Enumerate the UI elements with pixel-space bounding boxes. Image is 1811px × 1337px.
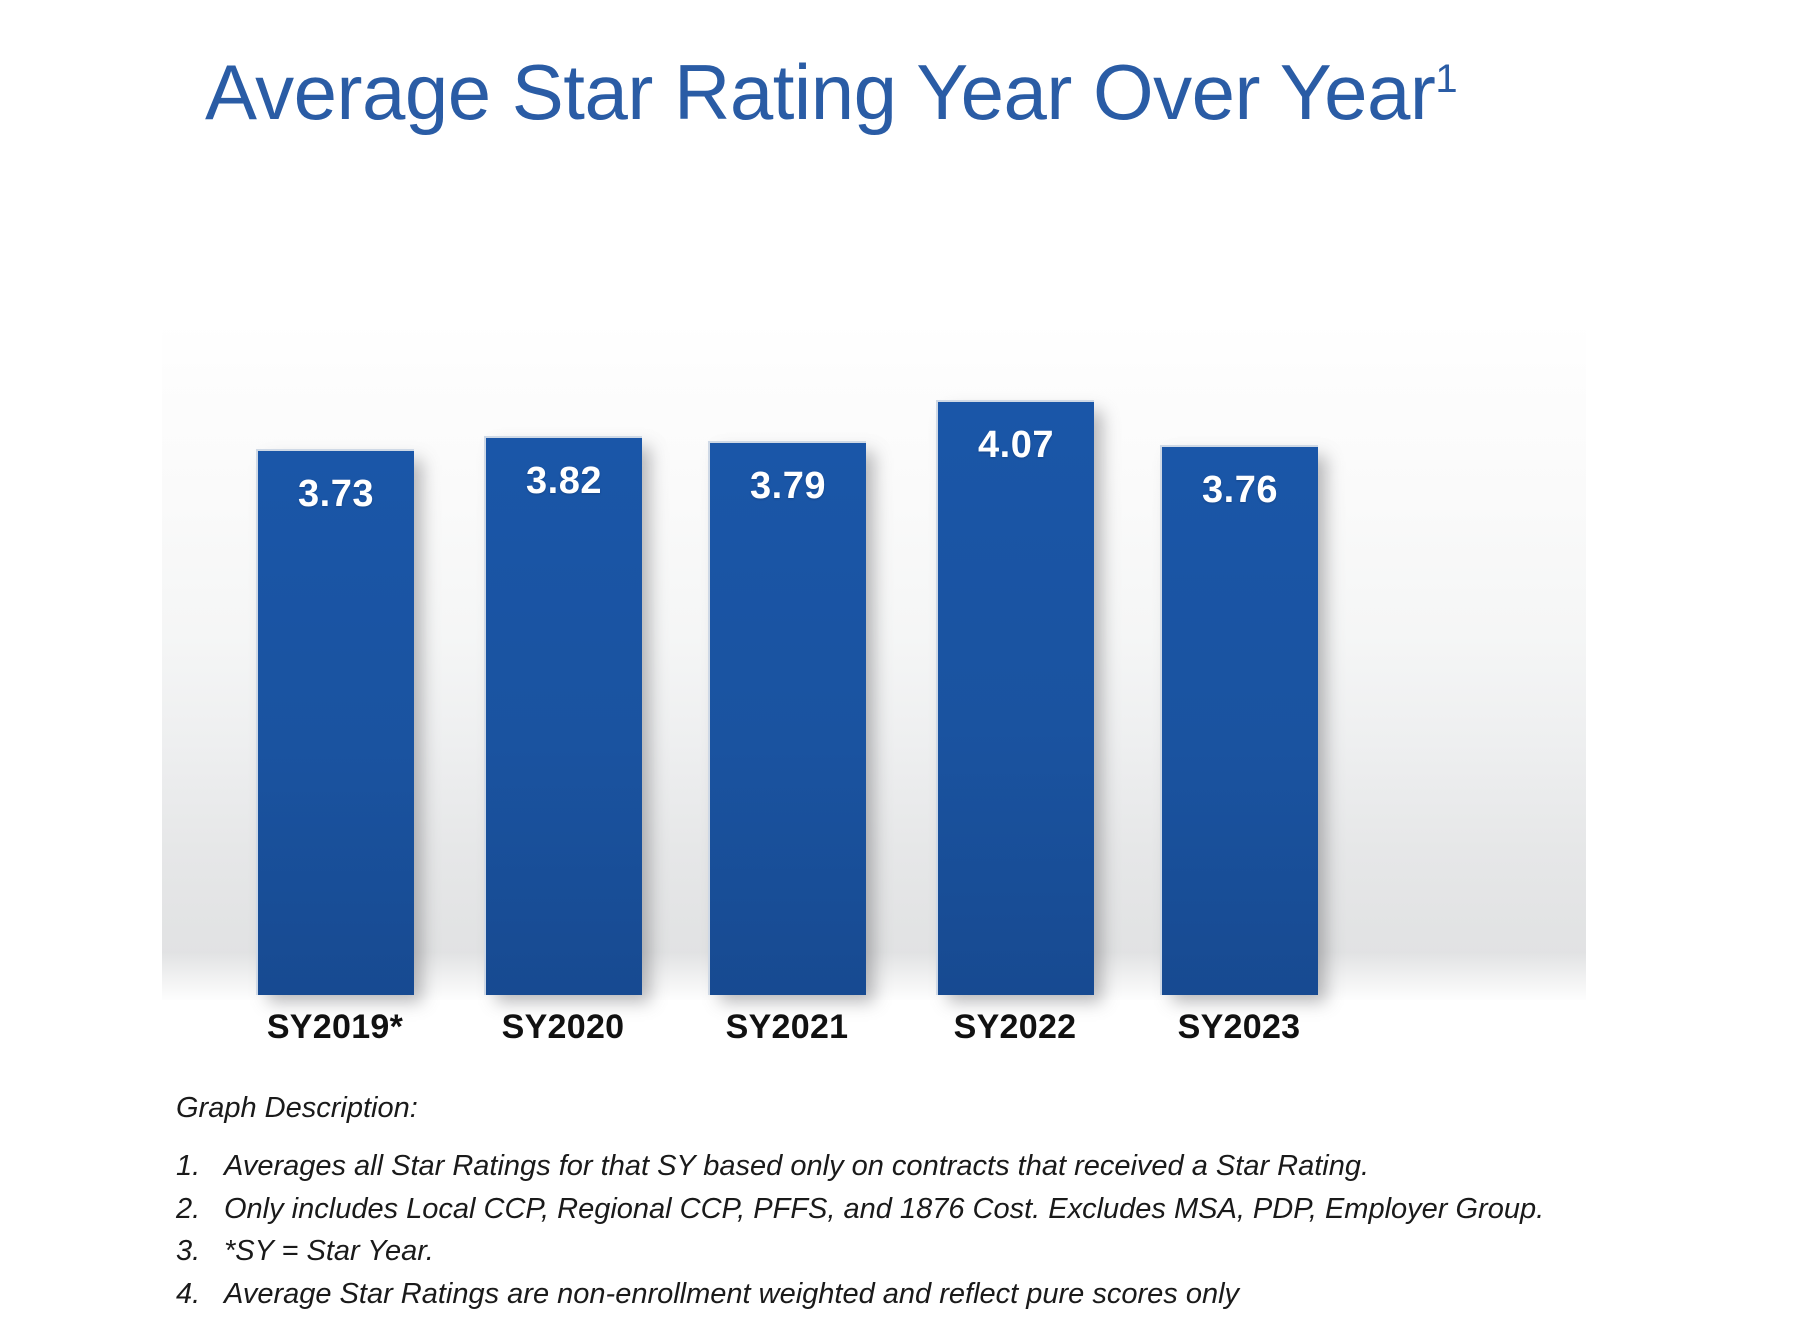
bar-value-label: 4.07: [938, 424, 1094, 467]
bar-value-label: 3.82: [486, 460, 642, 503]
graph-description-item-text: *SY = Star Year.: [224, 1232, 1596, 1271]
bar-slot: 4.07: [936, 400, 1094, 995]
category-label-sy2019: SY2019*: [235, 1008, 435, 1047]
bar-sy2021[interactable]: 3.79: [708, 441, 866, 995]
graph-description-heading: Graph Description:: [176, 1092, 1596, 1125]
graph-description-item-number: 2.: [176, 1190, 224, 1229]
graph-description-item-number: 4.: [176, 1275, 224, 1314]
graph-description-item-text: Averages all Star Ratings for that SY ba…: [224, 1147, 1596, 1186]
graph-description-item: 1.Averages all Star Ratings for that SY …: [176, 1147, 1596, 1186]
bar-slot: 3.73: [256, 449, 414, 995]
bar-slot: 3.76: [1160, 445, 1318, 995]
bar-value-label: 3.76: [1162, 469, 1318, 512]
graph-description-list: 1.Averages all Star Ratings for that SY …: [176, 1147, 1596, 1313]
slide-canvas: Average Star Rating Year Over Year1 3.73…: [0, 0, 1811, 1337]
graph-description-item: 3.*SY = Star Year.: [176, 1232, 1596, 1271]
bar-sy2022[interactable]: 4.07: [936, 400, 1094, 995]
graph-description-item-text: Only includes Local CCP, Regional CCP, P…: [224, 1190, 1596, 1229]
page-title: Average Star Rating Year Over Year1: [205, 48, 1457, 138]
bar-value-label: 3.79: [710, 465, 866, 508]
page-title-text: Average Star Rating Year Over Year: [205, 48, 1435, 136]
graph-description-item-number: 3.: [176, 1232, 224, 1271]
bar-sy2023[interactable]: 3.76: [1160, 445, 1318, 995]
category-label-sy2020: SY2020: [463, 1008, 663, 1047]
bar-series: 3.733.823.794.073.76: [162, 322, 1586, 1000]
graph-description-item-text: Average Star Ratings are non-enrollment …: [224, 1275, 1596, 1314]
category-label-sy2023: SY2023: [1139, 1008, 1339, 1047]
bar-sy2020[interactable]: 3.82: [484, 436, 642, 995]
graph-description-item: 4.Average Star Ratings are non-enrollmen…: [176, 1275, 1596, 1314]
bar-slot: 3.82: [484, 436, 642, 995]
graph-description-item-number: 1.: [176, 1147, 224, 1186]
category-label-sy2022: SY2022: [915, 1008, 1115, 1047]
graph-description: Graph Description: 1.Averages all Star R…: [176, 1092, 1596, 1317]
category-label-sy2021: SY2021: [687, 1008, 887, 1047]
bar-sy2019[interactable]: 3.73: [256, 449, 414, 995]
graph-description-item: 2.Only includes Local CCP, Regional CCP,…: [176, 1190, 1596, 1229]
page-title-superscript: 1: [1435, 57, 1457, 101]
bar-value-label: 3.73: [258, 473, 414, 516]
bar-slot: 3.79: [708, 441, 866, 995]
